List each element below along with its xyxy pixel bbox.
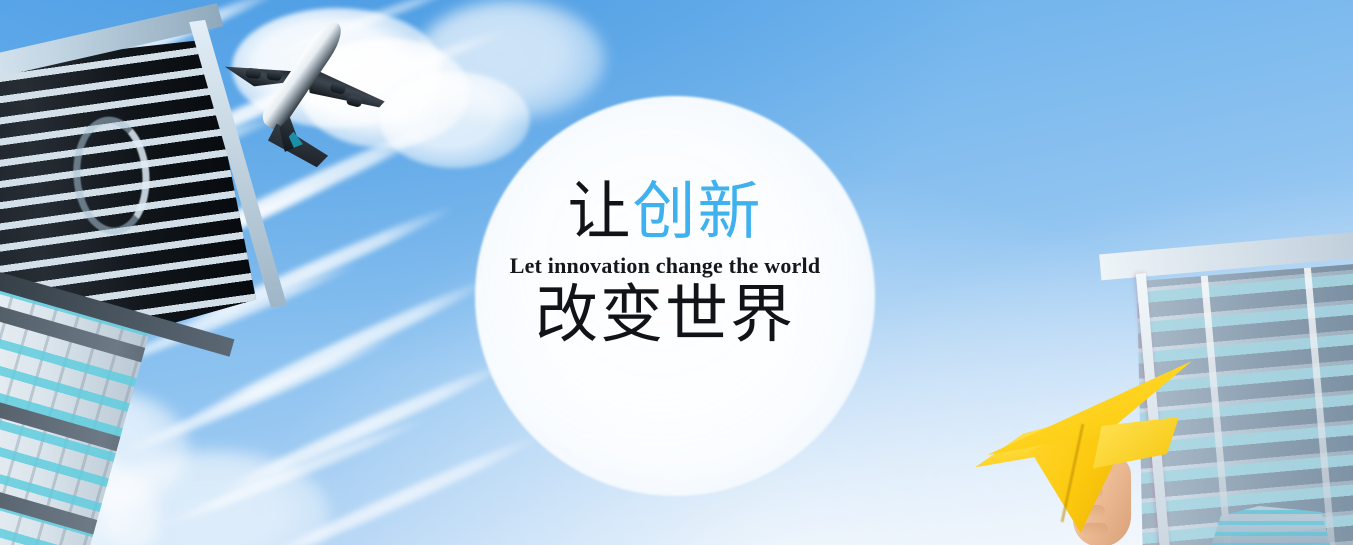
banner-subtitle: Let innovation change the world <box>455 253 875 279</box>
headline-accent: 创新 <box>633 175 763 248</box>
headline-primary: 让创新 <box>455 180 875 244</box>
banner-copy: 让创新 Let innovation change the world 改变世界 <box>455 180 875 348</box>
hero-banner: 让创新 Let innovation change the world 改变世界 <box>0 0 1353 545</box>
headline-secondary: 改变世界 <box>455 283 875 347</box>
paper-plane-icon <box>975 355 1215 535</box>
headline-prefix: 让 <box>568 175 633 248</box>
